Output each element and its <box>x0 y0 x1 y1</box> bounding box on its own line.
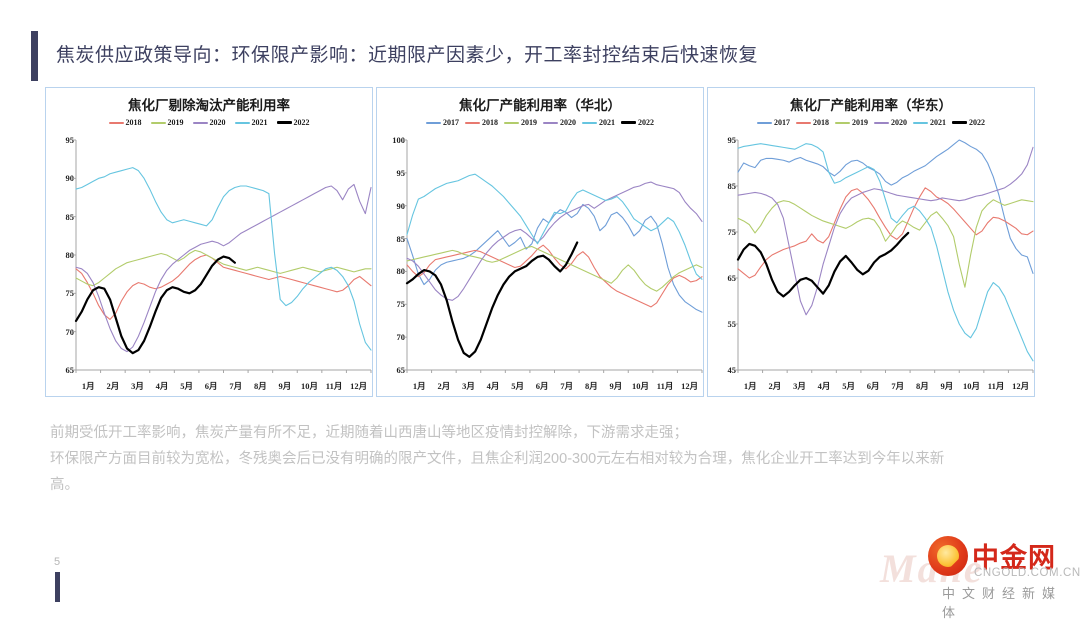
series-2020 <box>407 182 702 300</box>
series-2022 <box>407 243 577 357</box>
logo-mark-icon <box>928 536 968 576</box>
chart-3-plot <box>708 88 1035 397</box>
chart-panel-2: 焦化厂产能利用率（华北） 201720182019202020212022 10… <box>376 87 704 397</box>
series-2019 <box>738 200 1033 287</box>
series-2019 <box>407 246 702 291</box>
site-logo: 中金网 CNGOLD.COM.CN 中文财经新媒体 <box>928 534 1078 600</box>
logo-url: CNGOLD.COM.CN <box>974 567 1080 579</box>
chart-1-plot <box>46 88 373 397</box>
slide-root: 焦炭供应政策导向：环保限产影响：近期限产因素少，开工率封控结束后快速恢复 焦化厂… <box>0 0 1080 608</box>
series-2022 <box>76 257 235 354</box>
chart-panel-3: 焦化厂产能利用率（华东） 201720182019202020212022 95… <box>707 87 1035 397</box>
charts-row: 焦化厂剔除淘汰产能利用率 20182019202020212022 959085… <box>45 87 1035 397</box>
body-line-3: 高。 <box>50 472 1020 498</box>
logo-tagline: 中文财经新媒体 <box>942 583 1078 621</box>
chart-panel-1: 焦化厂剔除淘汰产能利用率 20182019202020212022 959085… <box>45 87 373 397</box>
series-2018 <box>407 245 702 307</box>
page-number-bar <box>55 572 60 602</box>
title-accent-bar <box>31 31 38 81</box>
series-2021 <box>738 144 1033 361</box>
series-2021 <box>407 174 702 279</box>
page-number: 5 <box>54 556 60 568</box>
body-line-2: 环保限产方面目前较为宽松，冬残奥会后已没有明确的限产文件，且焦企利润200-30… <box>50 446 1020 472</box>
chart-2-plot <box>377 88 704 397</box>
body-line-1: 前期受低开工率影响，焦炭产量有所不足，近期随着山西唐山等地区疫情封控解除，下游需… <box>50 420 1020 446</box>
series-2021 <box>76 168 371 350</box>
body-paragraph: 前期受低开工率影响，焦炭产量有所不足，近期随着山西唐山等地区疫情封控解除，下游需… <box>50 420 1020 498</box>
page-title: 焦炭供应政策导向：环保限产影响：近期限产因素少，开工率封控结束后快速恢复 <box>56 40 758 67</box>
